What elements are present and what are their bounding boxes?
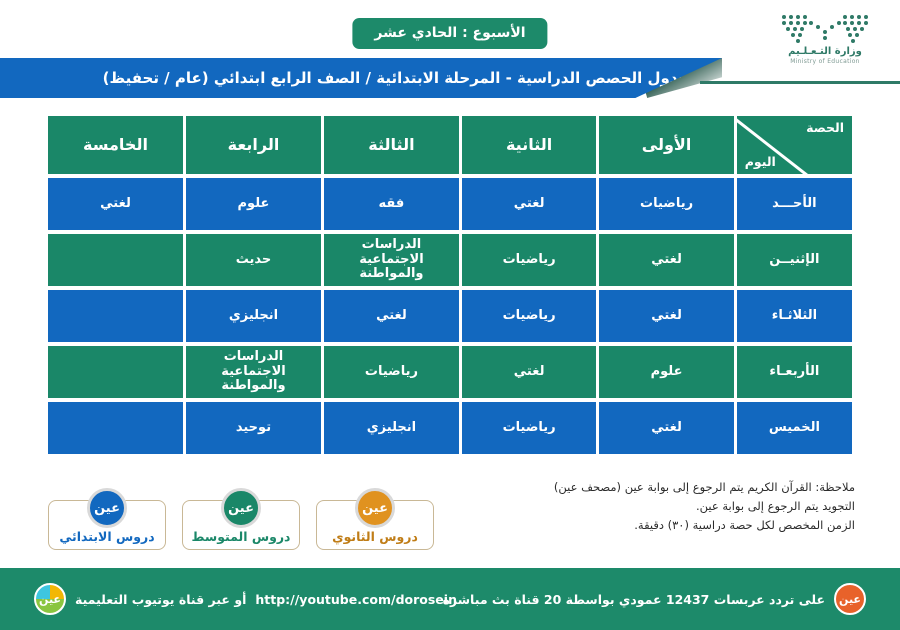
subject-cell: حديث: [186, 234, 321, 286]
table-row: الخميسلغتيرياضياتانجليزيتوحيد: [48, 402, 852, 454]
page-header: الأسبوع : الحادي عشر جدول الحصص الدراسية…: [0, 0, 900, 100]
badge-label: دروس الابتدائي: [59, 529, 154, 544]
title-banner: جدول الحصص الدراسية - المرحلة الابتدائية…: [0, 58, 722, 98]
corner-day-label: اليوم: [745, 155, 776, 169]
subject-cell: [48, 290, 183, 342]
ayn-lesson-badges: دروس الابتدائي عين دروس المتوسط عين دروس…: [48, 488, 434, 550]
subject-cell: انجليزي: [186, 290, 321, 342]
ayn-logo-icon: عين: [834, 583, 866, 615]
badge-label: دروس الثانوي: [332, 529, 418, 544]
ministry-of-education-logo: وزارة التـعـلـيم Ministry of Education: [766, 12, 884, 74]
subject-cell: [48, 402, 183, 454]
footer-youtube-info[interactable]: عين أو عبر قناة يوتيوب التعليمية http://…: [34, 583, 457, 615]
header-divider-rule: [700, 81, 900, 84]
moe-dotted-palm-icon: [766, 12, 884, 44]
badge-intermediate-lessons[interactable]: دروس المتوسط عين: [182, 488, 300, 550]
period-header-3: الثالثة: [324, 116, 459, 174]
subject-cell: [48, 234, 183, 286]
moe-logo-english-text: Ministry of Education: [766, 58, 884, 65]
note-line: ملاحظة: القرآن الكريم يتم الرجوع إلى بوا…: [435, 478, 855, 497]
period-header-2: الثانية: [462, 116, 596, 174]
table-header-row: الحصةاليومالأولىالثانيةالثالثةالرابعةالخ…: [48, 116, 852, 174]
subject-cell: رياضيات: [599, 178, 733, 230]
period-header-5: الخامسة: [48, 116, 183, 174]
subject-cell: لغتي: [599, 234, 733, 286]
subject-cell: لغتي: [48, 178, 183, 230]
day-cell: الأحـــد: [737, 178, 852, 230]
badge-elementary-lessons[interactable]: دروس الابتدائي عين: [48, 488, 166, 550]
badge-secondary-lessons[interactable]: دروس الثانوي عين: [316, 488, 434, 550]
subject-cell: رياضيات: [324, 346, 459, 398]
subject-cell: لغتي: [324, 290, 459, 342]
table-row: الأربعـاءعلوملغتيرياضياتالدراسات الاجتما…: [48, 346, 852, 398]
subject-cell: لغتي: [462, 178, 596, 230]
footer-broadcast-info: عين على تردد عربسات 12437 عمودي بواسطة 2…: [443, 583, 866, 615]
footer-youtube-url[interactable]: http://youtube.com/dorosein: [255, 592, 457, 607]
ayn-circle-icon: عين: [221, 488, 261, 528]
badge-label: دروس المتوسط: [192, 529, 291, 544]
subject-cell: رياضيات: [462, 234, 596, 286]
note-line: الزمن المخصص لكل حصة دراسية (٣٠) دقيقة.: [435, 516, 855, 535]
class-schedule-table: الحصةاليومالأولىالثانيةالثالثةالرابعةالخ…: [45, 112, 855, 458]
week-badge: الأسبوع : الحادي عشر: [352, 18, 547, 49]
subject-cell: علوم: [599, 346, 733, 398]
subject-cell: لغتي: [462, 346, 596, 398]
footer-youtube-text: أو عبر قناة يوتيوب التعليمية: [75, 592, 246, 607]
subject-cell: رياضيات: [462, 290, 596, 342]
period-header-4: الرابعة: [186, 116, 321, 174]
corner-cell: الحصةاليوم: [737, 116, 852, 174]
ayn-circle-icon: عين: [355, 488, 395, 528]
subject-cell: علوم: [186, 178, 321, 230]
schedule-page: الأسبوع : الحادي عشر جدول الحصص الدراسية…: [0, 0, 900, 630]
subject-cell: الدراسات الاجتماعية والمواطنة: [324, 234, 459, 286]
subject-cell: لغتي: [599, 290, 733, 342]
ayn-youtube-icon: عين: [34, 583, 66, 615]
period-header-1: الأولى: [599, 116, 733, 174]
table-row: الإثنيــنلغتيرياضياتالدراسات الاجتماعية …: [48, 234, 852, 286]
subject-cell: لغتي: [599, 402, 733, 454]
subject-cell: [48, 346, 183, 398]
day-cell: الأربعـاء: [737, 346, 852, 398]
page-title: جدول الحصص الدراسية - المرحلة الابتدائية…: [103, 69, 690, 87]
table-row: الثلاثـاءلغتيرياضياتلغتيانجليزي: [48, 290, 852, 342]
subject-cell: الدراسات الاجتماعية والمواطنة: [186, 346, 321, 398]
ayn-circle-icon: عين: [87, 488, 127, 528]
subject-cell: رياضيات: [462, 402, 596, 454]
corner-period-label: الحصة: [806, 121, 844, 135]
moe-logo-arabic-text: وزارة التـعـلـيم: [766, 46, 884, 57]
day-cell: الخميس: [737, 402, 852, 454]
subject-cell: انجليزي: [324, 402, 459, 454]
subject-cell: توحيد: [186, 402, 321, 454]
note-line: التجويد يتم الرجوع إلى بوابة عين.: [435, 497, 855, 516]
day-cell: الثلاثـاء: [737, 290, 852, 342]
subject-cell: فقه: [324, 178, 459, 230]
table-row: الأحـــدرياضياتلغتيفقهعلوملغتي: [48, 178, 852, 230]
notes-block: ملاحظة: القرآن الكريم يتم الرجوع إلى بوا…: [435, 478, 855, 535]
page-footer: عين على تردد عربسات 12437 عمودي بواسطة 2…: [0, 568, 900, 630]
day-cell: الإثنيــن: [737, 234, 852, 286]
footer-broadcast-text: على تردد عربسات 12437 عمودي بواسطة 20 قن…: [443, 592, 825, 607]
